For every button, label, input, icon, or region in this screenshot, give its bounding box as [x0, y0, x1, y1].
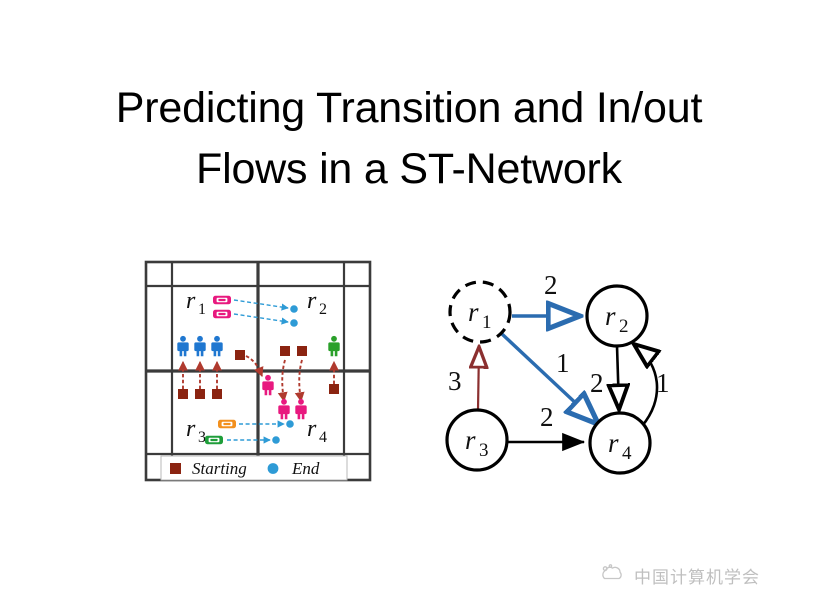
svg-text:2: 2 — [319, 301, 327, 318]
node-label-r1-base: r — [468, 297, 479, 327]
legend-end-icon — [268, 463, 279, 474]
car-icon — [213, 296, 231, 304]
starting-square — [280, 346, 290, 356]
page-title: Predicting Transition and In/out Flows i… — [0, 78, 818, 200]
st-network-graph-figure: 2 1 3 2 2 1 r 1 — [432, 268, 674, 484]
starting-square — [212, 389, 222, 399]
legend-starting-label: Starting — [192, 459, 247, 478]
edge-label-r3-r4: 2 — [540, 402, 554, 432]
end-dot — [290, 319, 298, 327]
starting-square — [195, 389, 205, 399]
starting-square — [329, 384, 339, 394]
svg-text:r: r — [307, 416, 317, 442]
ccf-cloud-logo-icon — [600, 563, 626, 587]
edge-label-r4-r2: 1 — [656, 368, 670, 398]
svg-text:r: r — [307, 288, 317, 314]
svg-text:4: 4 — [319, 429, 327, 446]
edge-label-r3-r1: 3 — [448, 366, 462, 396]
end-dot — [286, 420, 294, 428]
node-label-r3-base: r — [465, 425, 476, 455]
car-icon — [218, 420, 236, 428]
svg-text:3: 3 — [198, 429, 206, 446]
region-grid-figure: r 1 r 2 r 3 r 4 — [142, 258, 374, 486]
watermark-text: 中国计算机学会 — [634, 563, 760, 588]
svg-text:r: r — [186, 416, 196, 442]
node-circle-r4 — [590, 413, 650, 473]
edge-label-r2-r4: 2 — [590, 368, 604, 398]
title-line-2: Flows in a ST-Network — [0, 139, 818, 200]
title-line-1: Predicting Transition and In/out — [0, 78, 818, 139]
node-label-r4-base: r — [608, 428, 619, 458]
edge-label-r1-r4: 1 — [556, 348, 570, 378]
node-label-r2-sub: 2 — [619, 316, 629, 337]
graph-node-r4[interactable]: r 4 — [590, 413, 650, 473]
car-icon — [205, 436, 223, 444]
graph-node-r1[interactable]: r 1 — [450, 282, 510, 342]
node-label-r4-sub: 4 — [622, 443, 632, 464]
node-label-r2-base: r — [605, 301, 616, 331]
graph-node-r3[interactable]: r 3 — [447, 410, 507, 470]
svg-text:1: 1 — [198, 301, 206, 318]
node-label-r1-sub: 1 — [482, 312, 492, 333]
legend-starting-icon — [170, 463, 181, 474]
end-dot — [290, 305, 298, 313]
starting-square — [235, 350, 245, 360]
car-icon — [213, 310, 231, 318]
grid-legend: Starting End — [161, 456, 347, 480]
legend-end-label: End — [291, 459, 320, 478]
end-dot — [272, 436, 280, 444]
starting-square — [178, 389, 188, 399]
svg-text:r: r — [186, 288, 196, 314]
starting-square — [297, 346, 307, 356]
node-circle-r2 — [587, 286, 647, 346]
watermark: 中国计算机学会 — [600, 558, 805, 592]
node-circle-r1 — [450, 282, 510, 342]
node-label-r3-sub: 3 — [479, 440, 489, 461]
node-circle-r3 — [447, 410, 507, 470]
graph-node-r2[interactable]: r 2 — [587, 286, 647, 346]
edge-label-r1-r2: 2 — [544, 270, 558, 300]
